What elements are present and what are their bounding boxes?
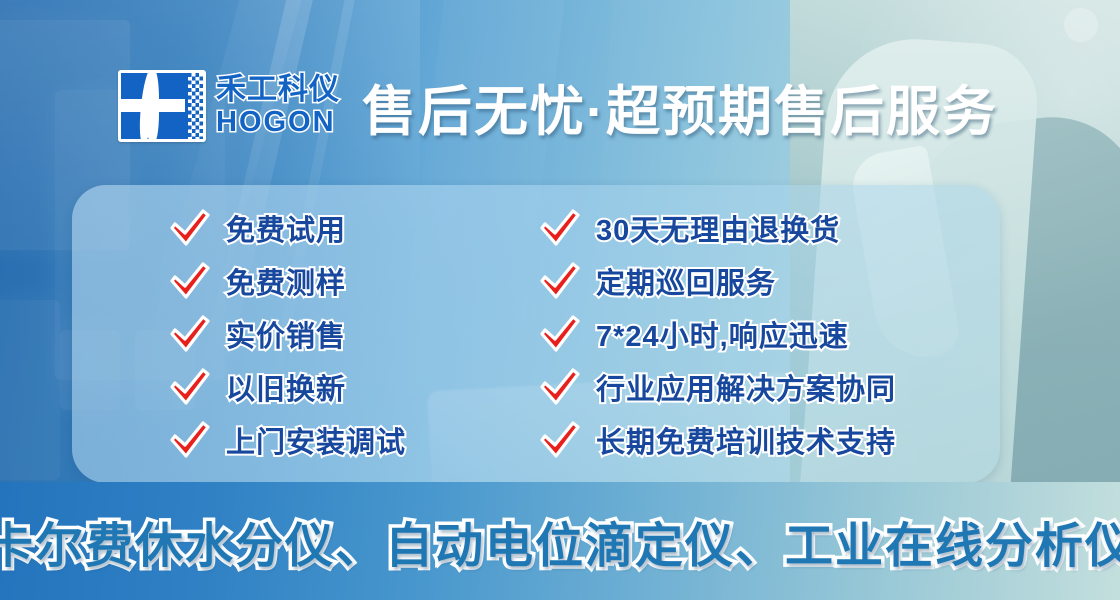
red-check-icon xyxy=(168,208,212,248)
red-check-icon xyxy=(168,420,212,460)
banner-header: 禾工科仪 HOGON 售后无忧·超预期售后服务 xyxy=(0,62,1120,150)
background-equipment-shape xyxy=(0,300,60,480)
feature-label: 实价销售 xyxy=(226,313,346,355)
feature-item: 行业应用解决方案协同 xyxy=(538,365,958,409)
brand-logo: 禾工科仪 HOGON xyxy=(118,70,340,142)
feature-item: 免费试用 xyxy=(168,206,468,250)
promo-banner: 禾工科仪 HOGON 售后无忧·超预期售后服务 免费试用 免费测样 xyxy=(0,0,1120,600)
feature-label: 免费试用 xyxy=(226,207,346,249)
feature-item: 30天无理由退换货 xyxy=(538,206,958,250)
feature-label: 定期巡回服务 xyxy=(596,260,776,302)
red-check-icon xyxy=(168,261,212,301)
feature-label: 上门安装调试 xyxy=(226,419,406,461)
feature-item: 7*24小时,响应迅速 xyxy=(538,312,958,356)
red-check-icon xyxy=(538,261,582,301)
brand-name-cn: 禾工科仪 xyxy=(216,75,340,105)
feature-label: 30天无理由退换货 xyxy=(596,207,840,249)
logo-cross-vertical xyxy=(146,73,159,139)
background-highlight-dot xyxy=(1064,8,1098,42)
red-check-icon xyxy=(538,314,582,354)
feature-item: 上门安装调试 xyxy=(168,418,468,462)
features-card: 免费试用 免费测样 实价销售 以旧换新 xyxy=(72,185,1000,483)
feature-item: 免费测样 xyxy=(168,259,468,303)
feature-item: 长期免费培训技术支持 xyxy=(538,418,958,462)
brand-logo-text: 禾工科仪 HOGON xyxy=(216,75,340,137)
feature-item: 以旧换新 xyxy=(168,365,468,409)
logo-mark-inner xyxy=(121,73,203,139)
banner-headline: 售后无忧·超预期售后服务 xyxy=(362,67,998,146)
logo-perforation-pattern xyxy=(188,73,203,139)
red-check-icon xyxy=(168,367,212,407)
feature-label: 行业应用解决方案协同 xyxy=(596,366,896,408)
hogon-flag-logo-icon xyxy=(118,70,206,142)
feature-label: 免费测样 xyxy=(226,260,346,302)
red-check-icon xyxy=(538,208,582,248)
feature-label: 7*24小时,响应迅速 xyxy=(596,313,849,355)
red-check-icon xyxy=(538,420,582,460)
red-check-icon xyxy=(538,367,582,407)
brand-name-en: HOGON xyxy=(216,108,340,137)
features-column-right: 30天无理由退换货 定期巡回服务 7*24小时,响应迅速 行业应用解决方案协同 xyxy=(538,206,958,462)
feature-item: 实价销售 xyxy=(168,312,468,356)
product-list-text: 卡尔费休水分仪、自动电位滴定仪、工业在线分析仪 xyxy=(0,506,1120,576)
red-check-icon xyxy=(168,314,212,354)
feature-label: 长期免费培训技术支持 xyxy=(596,419,896,461)
feature-item: 定期巡回服务 xyxy=(538,259,958,303)
product-footer-bar: 卡尔费休水分仪、自动电位滴定仪、工业在线分析仪 xyxy=(0,482,1120,600)
feature-label: 以旧换新 xyxy=(226,366,346,408)
features-column-left: 免费试用 免费测样 实价销售 以旧换新 xyxy=(168,206,468,462)
